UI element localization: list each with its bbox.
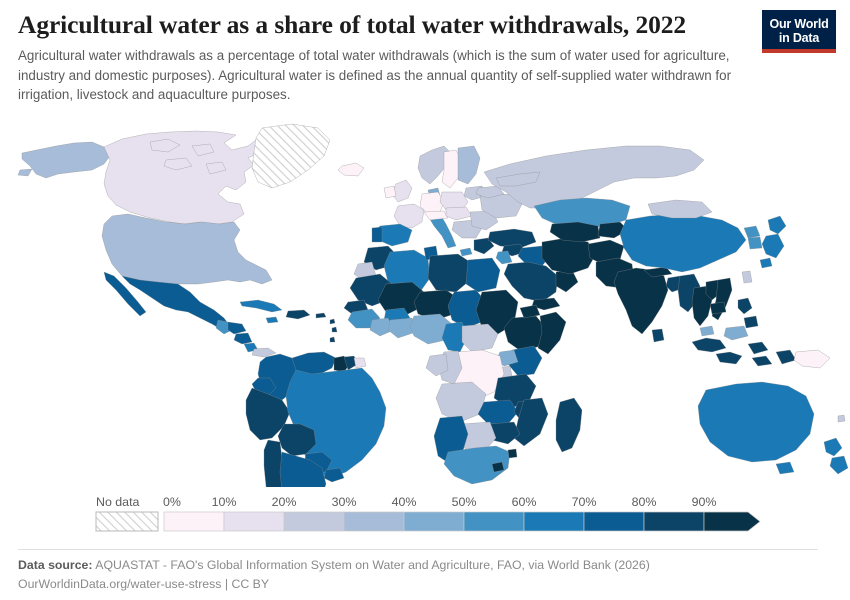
- legend-tick-0: 0%: [163, 495, 181, 509]
- country-japan[interactable]: [760, 216, 786, 268]
- country-malaysia[interactable]: [700, 326, 748, 340]
- country-czechia-hungary[interactable]: [446, 207, 472, 220]
- legend-bin-9-arrow[interactable]: [704, 512, 760, 531]
- country-fiji[interactable]: [838, 415, 845, 422]
- footer-divider: [18, 549, 818, 550]
- legend-tick-5: 50%: [452, 495, 477, 509]
- country-china[interactable]: [620, 214, 746, 272]
- legend-bin-5[interactable]: [464, 512, 524, 531]
- legend-bin-7[interactable]: [584, 512, 644, 531]
- country-lesotho[interactable]: [492, 462, 504, 472]
- country-canada[interactable]: [104, 131, 268, 224]
- map-svg: [0, 112, 850, 487]
- country-iran[interactable]: [542, 238, 596, 274]
- chart-header: Agricultural water as a share of total w…: [18, 10, 748, 105]
- legend-tick-9: 90%: [692, 495, 717, 509]
- page-title: Agricultural water as a share of total w…: [18, 10, 748, 39]
- legend-svg: No data 0% 10% 20% 30% 40% 50% 60% 70% 8…: [0, 490, 850, 540]
- country-puerto-rico[interactable]: [316, 313, 326, 318]
- country-jamaica[interactable]: [266, 317, 278, 323]
- country-tasmania[interactable]: [776, 462, 794, 474]
- legend-bins[interactable]: [164, 512, 760, 531]
- legend-no-data-label: No data: [96, 495, 140, 509]
- legend-bin-2[interactable]: [284, 512, 344, 531]
- legend-tick-6: 60%: [512, 495, 537, 509]
- country-honduras[interactable]: [228, 322, 246, 334]
- footer-license: | CC BY: [225, 577, 269, 591]
- legend-tick-8: 80%: [632, 495, 657, 509]
- country-new-zealand[interactable]: [824, 438, 848, 474]
- owid-logo[interactable]: Our World in Data: [762, 10, 836, 53]
- legend-bin-3[interactable]: [344, 512, 404, 531]
- legend-bin-6[interactable]: [524, 512, 584, 531]
- legend-tick-3: 30%: [332, 495, 357, 509]
- country-philippines[interactable]: [738, 298, 758, 328]
- country-uzbekistan-turkmenistan[interactable]: [550, 222, 600, 242]
- country-iceland[interactable]: [338, 163, 364, 176]
- map-countries: [18, 124, 848, 487]
- owid-chart-page: Agricultural water as a share of total w…: [0, 0, 850, 600]
- owid-logo-line2: in Data: [768, 31, 830, 45]
- country-zambia[interactable]: [478, 400, 518, 424]
- country-cambodia[interactable]: [710, 302, 726, 314]
- legend-bin-0[interactable]: [164, 512, 224, 531]
- country-lesser-antilles[interactable]: [330, 319, 337, 342]
- country-french-guiana[interactable]: [354, 358, 366, 368]
- legend-bin-8[interactable]: [644, 512, 704, 531]
- country-papua-new-guinea[interactable]: [794, 350, 830, 368]
- legend-bin-4[interactable]: [404, 512, 464, 531]
- country-switzerland-austria[interactable]: [424, 211, 448, 220]
- legend-tick-2: 20%: [272, 495, 297, 509]
- country-hispaniola[interactable]: [286, 310, 310, 319]
- world-choropleth-map[interactable]: [0, 112, 850, 487]
- country-united-states[interactable]: [102, 214, 272, 284]
- country-uruguay[interactable]: [324, 468, 344, 482]
- country-indonesia[interactable]: [692, 338, 796, 366]
- legend-tick-4: 40%: [392, 495, 417, 509]
- country-australia[interactable]: [698, 382, 814, 462]
- footer-source-label: Data source:: [18, 558, 93, 572]
- legend-no-data-swatch[interactable]: [96, 512, 158, 531]
- country-libya[interactable]: [428, 254, 470, 292]
- map-legend[interactable]: No data 0% 10% 20% 30% 40% 50% 60% 70% 8…: [0, 490, 850, 540]
- country-alaska[interactable]: [18, 142, 110, 178]
- country-ireland[interactable]: [384, 186, 396, 198]
- footer-source-text: AQUASTAT - FAO's Global Information Syst…: [95, 558, 650, 572]
- country-nicaragua[interactable]: [234, 333, 252, 344]
- country-south-korea[interactable]: [748, 237, 762, 249]
- country-taiwan[interactable]: [742, 271, 752, 283]
- footer-source-line: Data source: AQUASTAT - FAO's Global Inf…: [18, 556, 818, 575]
- legend-tick-1: 10%: [212, 495, 237, 509]
- country-north-korea[interactable]: [744, 226, 760, 238]
- footer-link-line: OurWorldinData.org/water-use-stress | CC…: [18, 575, 818, 594]
- chart-footer: Data source: AQUASTAT - FAO's Global Inf…: [18, 549, 818, 594]
- country-sri-lanka[interactable]: [652, 329, 664, 342]
- chart-subtitle: Agricultural water withdrawals as a perc…: [18, 46, 736, 104]
- footer-url-link[interactable]: OurWorldinData.org/water-use-stress: [18, 577, 221, 591]
- country-portugal[interactable]: [372, 227, 382, 242]
- country-egypt[interactable]: [466, 258, 500, 292]
- owid-logo-line1: Our World: [768, 17, 830, 31]
- country-madagascar[interactable]: [556, 398, 582, 452]
- legend-bin-1[interactable]: [224, 512, 284, 531]
- country-india[interactable]: [614, 268, 668, 334]
- legend-tick-7: 70%: [572, 495, 597, 509]
- country-finland[interactable]: [458, 146, 480, 184]
- country-greenland[interactable]: [252, 124, 330, 188]
- country-cuba[interactable]: [240, 300, 282, 312]
- country-eswatini[interactable]: [508, 449, 517, 458]
- country-somalia[interactable]: [538, 312, 566, 354]
